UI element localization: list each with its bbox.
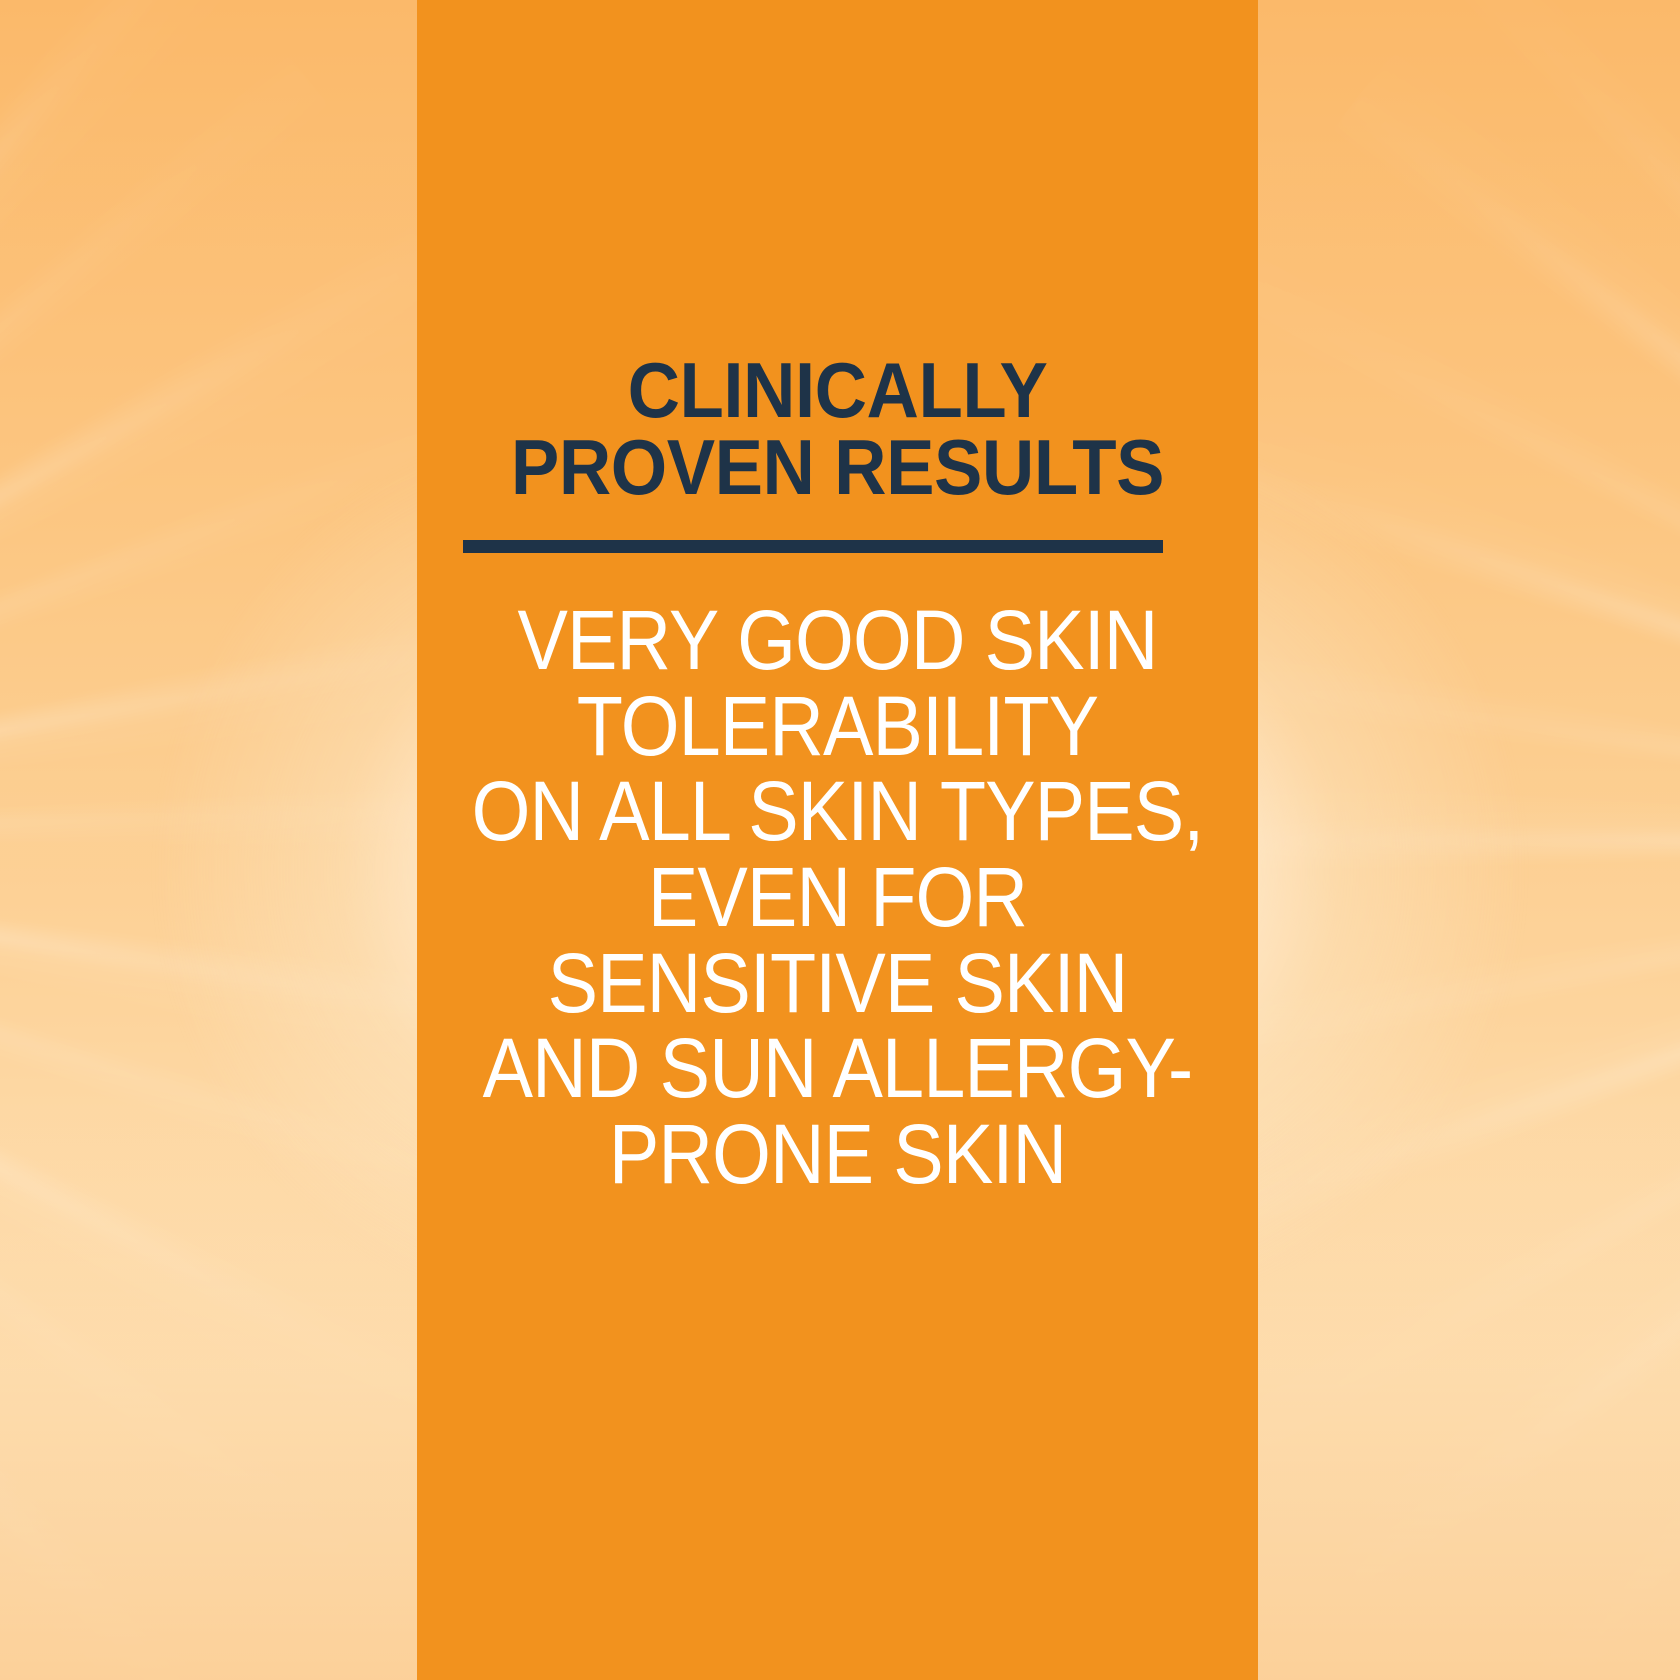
headline-underline-rule — [463, 540, 1163, 553]
headline-line-1: CLINICALLY — [446, 352, 1228, 429]
body-line: TOLERABILITY — [459, 684, 1216, 770]
body-line: PRONE SKIN — [459, 1112, 1216, 1198]
body-line: SENSITIVE SKIN — [459, 941, 1216, 1027]
body-line: EVEN FOR — [459, 855, 1216, 941]
body-line: VERY GOOD SKIN — [459, 598, 1216, 684]
body-copy-block: VERY GOOD SKIN TOLERABILITY ON ALL SKIN … — [417, 598, 1258, 1198]
body-line: ON ALL SKIN TYPES, — [459, 769, 1216, 855]
headline-line-2: PROVEN RESULTS — [446, 429, 1228, 506]
center-orange-panel: CLINICALLY PROVEN RESULTS VERY GOOD SKIN… — [417, 0, 1258, 1680]
poster-canvas: CLINICALLY PROVEN RESULTS VERY GOOD SKIN… — [0, 0, 1680, 1680]
body-line: AND SUN ALLERGY- — [459, 1026, 1216, 1112]
headline-block: CLINICALLY PROVEN RESULTS — [417, 352, 1258, 506]
